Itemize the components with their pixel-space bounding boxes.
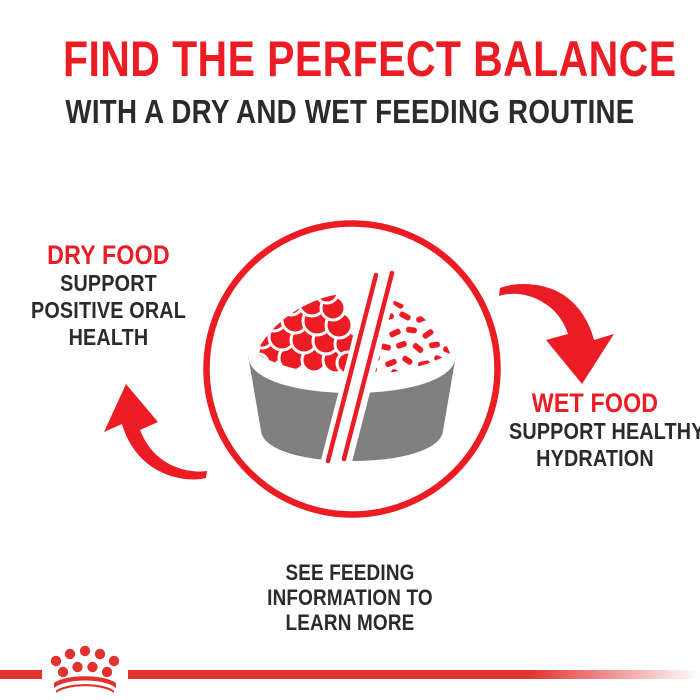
page-subtitle: WITH A DRY AND WET FEEDING ROUTINE (56, 94, 644, 130)
callout-dry-food-line-2: POSITIVE ORAL (20, 297, 196, 324)
split-pet-food-bowl-illustration (196, 213, 508, 525)
bottom-caption-line-1: SEE FEEDING (200, 560, 501, 585)
curved-arrow-down-right-icon (498, 278, 630, 392)
callout-wet-food-line-1: SUPPORT HEALTHY (509, 418, 681, 445)
bottom-caption-line-3: LEARN MORE (200, 610, 501, 635)
royal-canin-crown-icon (51, 646, 119, 693)
callout-dry-food-line-3: HEALTH (20, 324, 196, 351)
callout-wet-food-title: WET FOOD (509, 388, 681, 418)
callout-dry-food-title: DRY FOOD (20, 240, 196, 270)
infographic-page: FIND THE PERFECT BALANCE WITH A DRY AND … (0, 0, 700, 700)
callout-dry-food: DRY FOOD SUPPORT POSITIVE ORAL HEALTH (6, 240, 211, 351)
header: FIND THE PERFECT BALANCE WITH A DRY AND … (0, 32, 700, 130)
bottom-caption: SEE FEEDING INFORMATION TO LEARN MORE (175, 560, 525, 635)
footer (0, 636, 700, 700)
callout-wet-food: WET FOOD SUPPORT HEALTHY HYDRATION (495, 388, 695, 472)
page-title: FIND THE PERFECT BALANCE (63, 32, 637, 86)
red-horizontal-rule-right (128, 670, 700, 679)
bottom-caption-line-2: INFORMATION TO (200, 585, 501, 610)
callout-wet-food-line-2: HYDRATION (509, 445, 681, 472)
curved-arrow-up-left-icon (78, 378, 208, 490)
callout-dry-food-line-1: SUPPORT (20, 270, 196, 297)
red-horizontal-rule-left (0, 670, 42, 679)
